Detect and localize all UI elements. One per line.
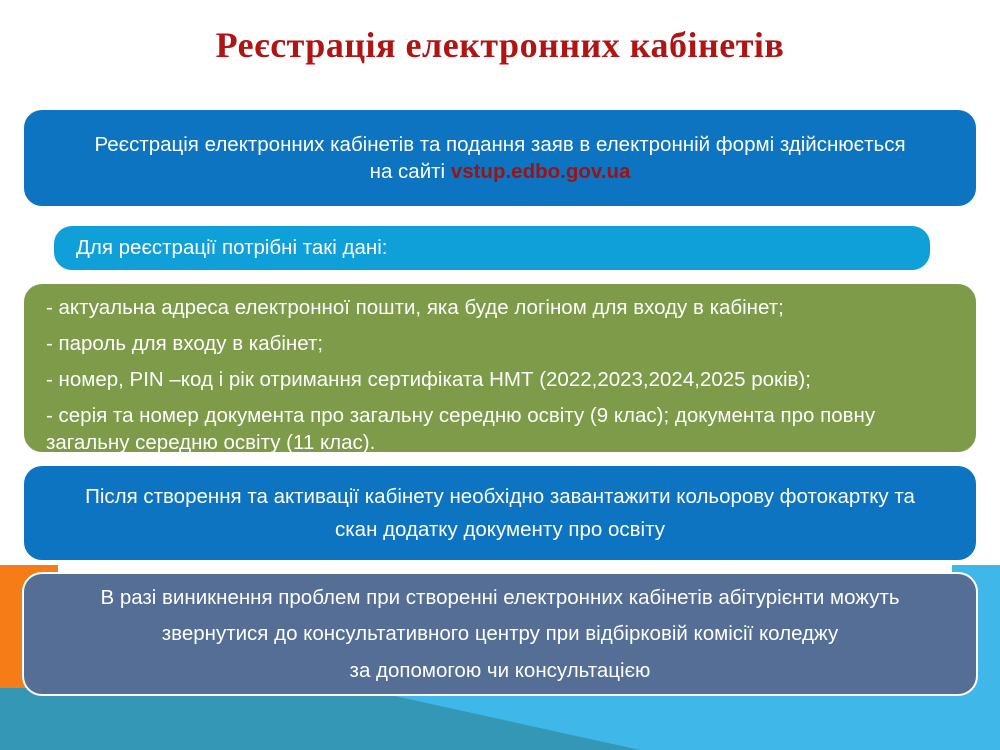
list-item: - пароль для входу в кабінет; bbox=[46, 330, 958, 357]
intro-callout-box: Реєстрація електронних кабінетів та пода… bbox=[22, 108, 978, 208]
support-line-1: В разі виникнення проблем при створенні … bbox=[40, 584, 960, 611]
slide-canvas: Реєстрація електронних кабінетів Реєстра… bbox=[0, 0, 1000, 750]
vstup-edbo-link[interactable]: vstup.edbo.gov.ua bbox=[451, 160, 631, 183]
support-line-3: за допомогою чи консультацією bbox=[40, 657, 960, 684]
support-info-box: В разі виникнення проблем при створенні … bbox=[22, 572, 978, 696]
intro-line-2-prefix: на сайті bbox=[370, 160, 451, 183]
list-item: - номер, PIN –код і рік отримання сертиф… bbox=[46, 366, 958, 393]
page-title: Реєстрація електронних кабінетів bbox=[0, 26, 1000, 66]
requirements-list-box: - актуальна адреса електронної пошти, як… bbox=[22, 282, 978, 454]
upload-note-line-1: Після створення та активації кабінету не… bbox=[40, 483, 960, 510]
upload-note-box: Після створення та активації кабінету не… bbox=[22, 464, 978, 562]
requirements-subheading-text: Для реєстрації потрібні такі дані: bbox=[76, 234, 908, 261]
upload-note-line-2: скан додатку документу про освіту bbox=[40, 516, 960, 543]
requirements-subheading-box: Для реєстрації потрібні такі дані: bbox=[52, 224, 932, 272]
intro-line-2: на сайті vstup.edbo.gov.ua bbox=[40, 158, 960, 185]
support-line-2: звернутися до консультативного центру пр… bbox=[40, 620, 960, 647]
intro-line-1: Реєстрація електронних кабінетів та пода… bbox=[40, 131, 960, 158]
list-item: - актуальна адреса електронної пошти, як… bbox=[46, 294, 958, 321]
list-item: - серія та номер документа про загальну … bbox=[46, 402, 958, 456]
